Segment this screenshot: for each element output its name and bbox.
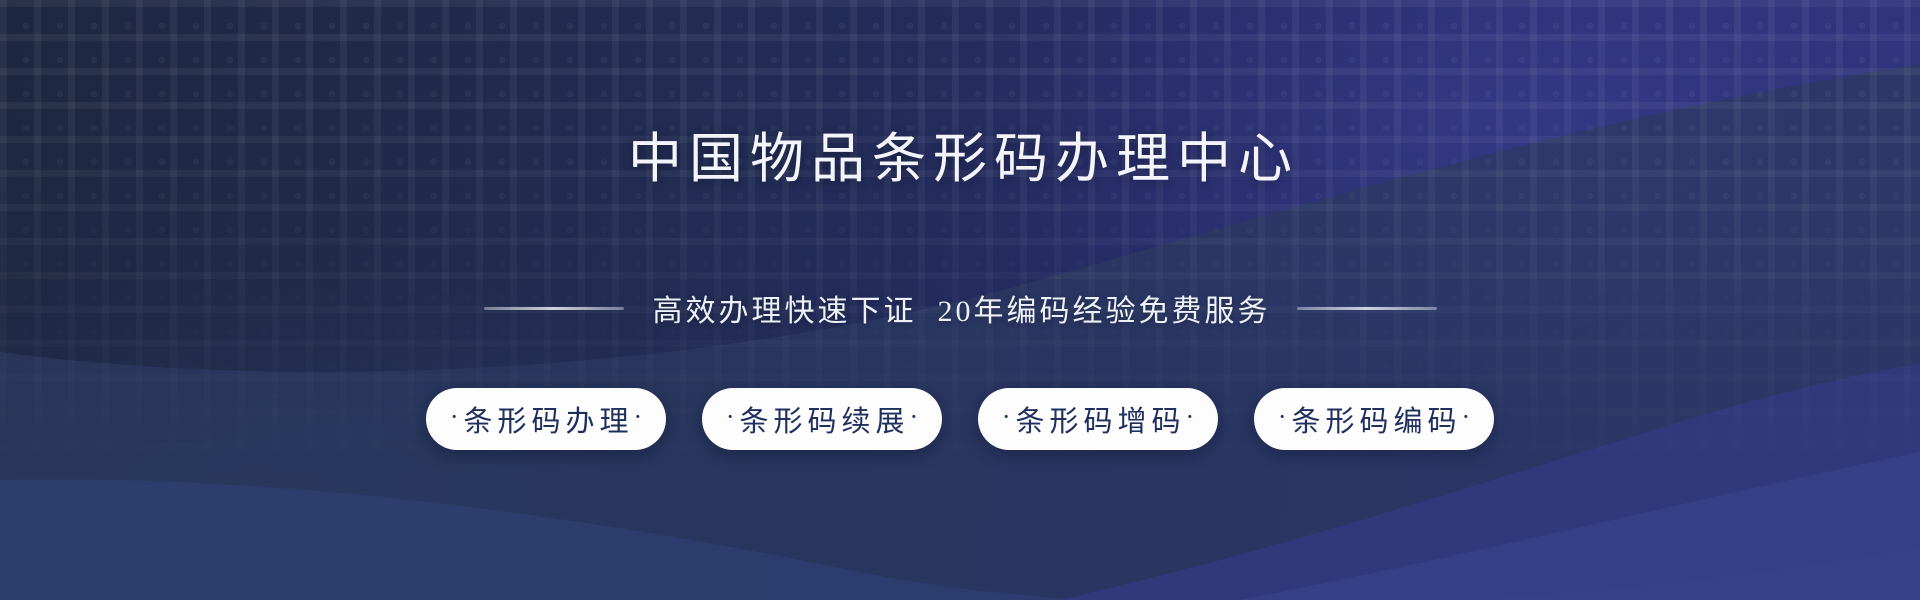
subtitle-rule-left <box>484 307 624 310</box>
bullet-dot-icon: · <box>450 404 459 430</box>
bullet-dot-icon: · <box>726 404 735 430</box>
service-pill-label: 条形码续展 <box>734 398 909 440</box>
service-pill-barcode-add-codes[interactable]: · 条形码增码 · <box>978 388 1218 450</box>
service-pill-barcode-apply[interactable]: · 条形码办理 · <box>426 388 666 450</box>
bullet-dot-icon: · <box>1462 404 1471 430</box>
bullet-dot-icon: · <box>1186 404 1195 430</box>
subtitle-text: 高效办理快速下证 20年编码经验免费服务 <box>650 286 1271 330</box>
service-pill-label: 条形码编码 <box>1286 398 1461 440</box>
service-pill-barcode-renewal[interactable]: · 条形码续展 · <box>702 388 942 450</box>
hero-banner: 中国物品条形码办理中心 高效办理快速下证 20年编码经验免费服务 · 条形码办理… <box>0 0 1920 600</box>
service-pill-label: 条形码增码 <box>1010 398 1185 440</box>
page-title: 中国物品条形码办理中心 <box>0 130 1920 189</box>
bullet-dot-icon: · <box>634 404 643 430</box>
service-pill-label: 条形码办理 <box>458 398 633 440</box>
bullet-dot-icon: · <box>1278 404 1287 430</box>
subtitle-row: 高效办理快速下证 20年编码经验免费服务 <box>0 286 1920 330</box>
service-pill-row: · 条形码办理 · · 条形码续展 · · 条形码增码 · · 条形码编码 · <box>0 388 1920 450</box>
bullet-dot-icon: · <box>910 404 919 430</box>
subtitle-rule-right <box>1297 307 1437 310</box>
service-pill-barcode-encoding[interactable]: · 条形码编码 · <box>1254 388 1494 450</box>
banner-content: 中国物品条形码办理中心 高效办理快速下证 20年编码经验免费服务 · 条形码办理… <box>0 0 1920 600</box>
bullet-dot-icon: · <box>1002 404 1011 430</box>
